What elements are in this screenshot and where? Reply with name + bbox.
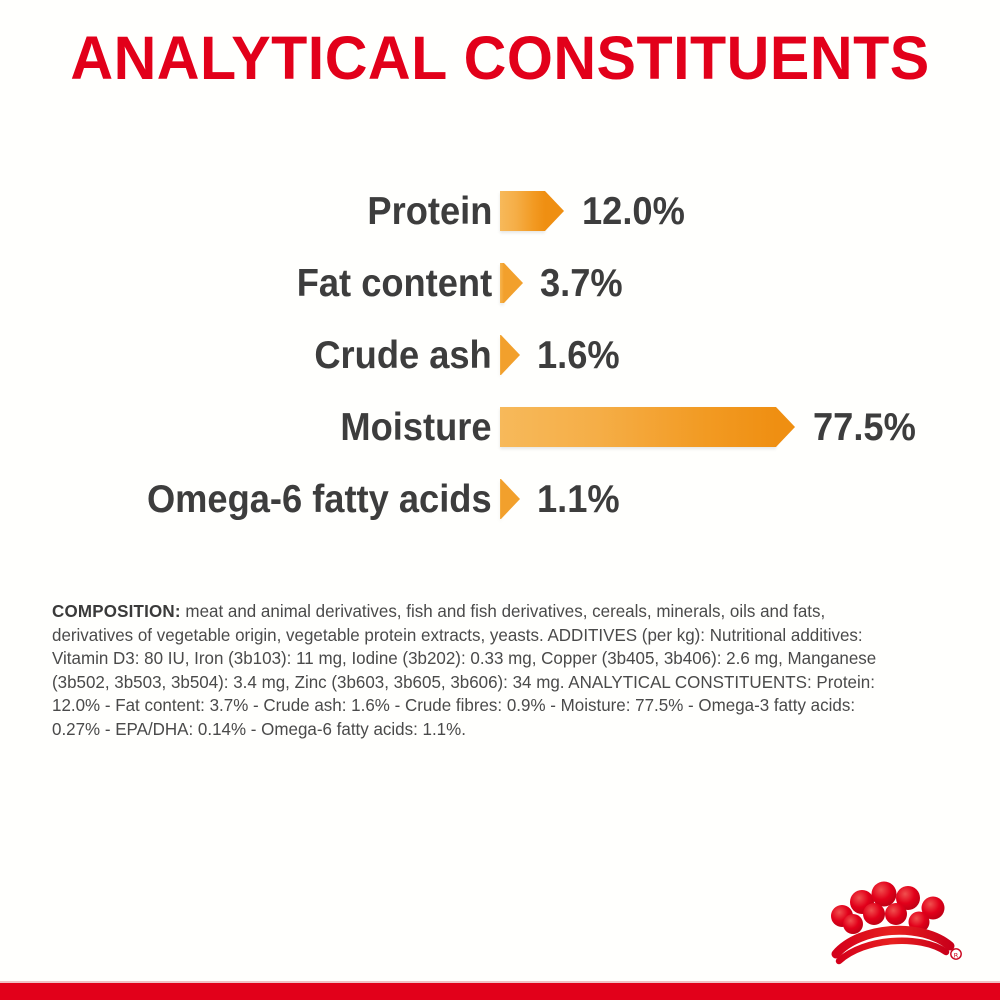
composition-heading: COMPOSITION:	[52, 601, 181, 621]
table-row: Moisture 77.5%	[0, 391, 1000, 463]
page-title: ANALYTICAL CONSTITUENTS	[15, 26, 985, 90]
royal-canin-crown-logo: R	[822, 862, 972, 967]
bar-value-omega-6-fatty-acids: 1.1%	[537, 480, 620, 519]
bar-label-moisture: Moisture	[341, 408, 492, 447]
page-root: ANALYTICAL CONSTITUENTS Protein 12.0% Fa…	[0, 0, 1000, 1000]
bottom-red-bar	[0, 981, 1000, 1000]
bar-label-crude-ash: Crude ash	[315, 336, 492, 375]
bar-value-protein: 12.0%	[582, 192, 685, 231]
bar-moisture	[500, 407, 776, 447]
bar-wrap-moisture: 77.5%	[500, 407, 776, 447]
bar-omega-6-fatty-acids	[500, 479, 501, 519]
composition-paragraph: COMPOSITION: meat and animal derivatives…	[52, 600, 882, 741]
bar-fat-content	[500, 263, 504, 303]
bar-crude-ash	[500, 335, 501, 375]
bar-value-moisture: 77.5%	[813, 408, 916, 447]
table-row: Fat content 3.7%	[0, 247, 1000, 319]
bar-label-omega-6-fatty-acids: Omega-6 fatty acids	[147, 480, 492, 519]
table-row: Crude ash 1.6%	[0, 319, 1000, 391]
composition-body: meat and animal derivatives, fish and fi…	[52, 601, 876, 739]
bar-protein	[500, 191, 545, 231]
bar-wrap-crude-ash: 1.6%	[500, 335, 501, 375]
table-row: Protein 12.0%	[0, 175, 1000, 247]
bar-label-fat-content: Fat content	[297, 264, 492, 303]
bar-value-crude-ash: 1.6%	[537, 336, 620, 375]
bar-label-protein: Protein	[367, 192, 492, 231]
bar-wrap-omega-6-fatty-acids: 1.1%	[500, 479, 501, 519]
table-row: Omega-6 fatty acids 1.1%	[0, 463, 1000, 535]
bar-wrap-fat-content: 3.7%	[500, 263, 504, 303]
bar-value-fat-content: 3.7%	[540, 264, 623, 303]
bar-wrap-protein: 12.0%	[500, 191, 545, 231]
analytical-constituents-chart: Protein 12.0% Fat content 3.7% Crude ash…	[0, 175, 1000, 535]
svg-text:R: R	[954, 951, 959, 959]
